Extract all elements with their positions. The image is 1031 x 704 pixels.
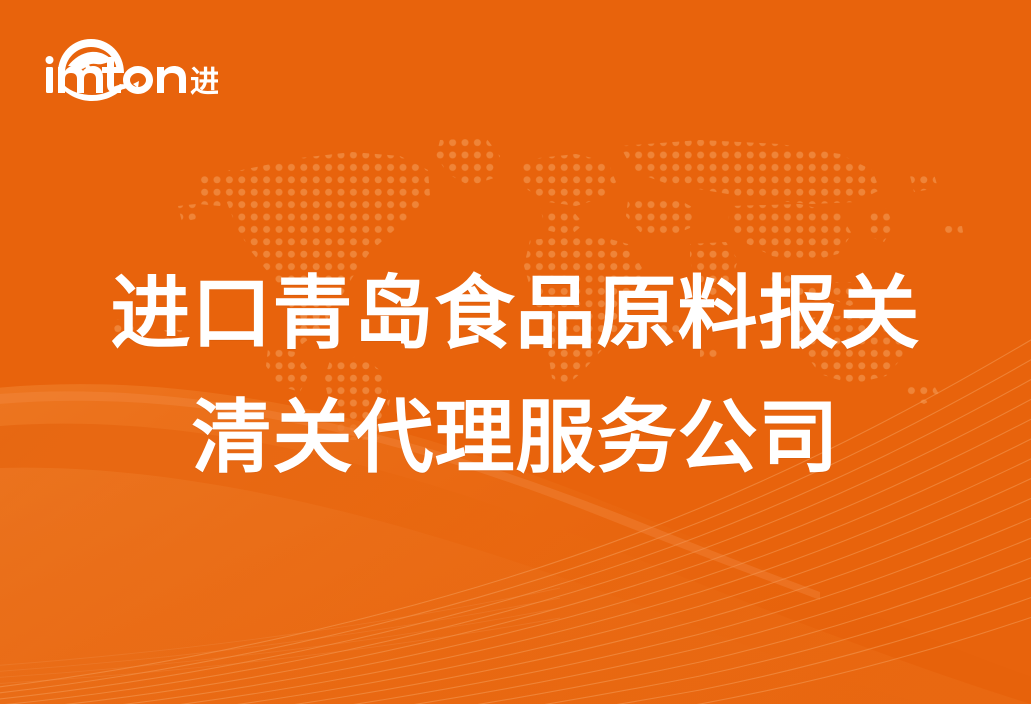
logo-chinese-text: 进贸通 bbox=[190, 65, 218, 100]
brand-logo[interactable]: 进贸通 ® bbox=[38, 30, 218, 102]
poster-canvas: 进贸通 ® 进口青岛食品原料报关 清关代理服务公司 bbox=[0, 0, 1031, 704]
background-decoration bbox=[0, 0, 1031, 704]
